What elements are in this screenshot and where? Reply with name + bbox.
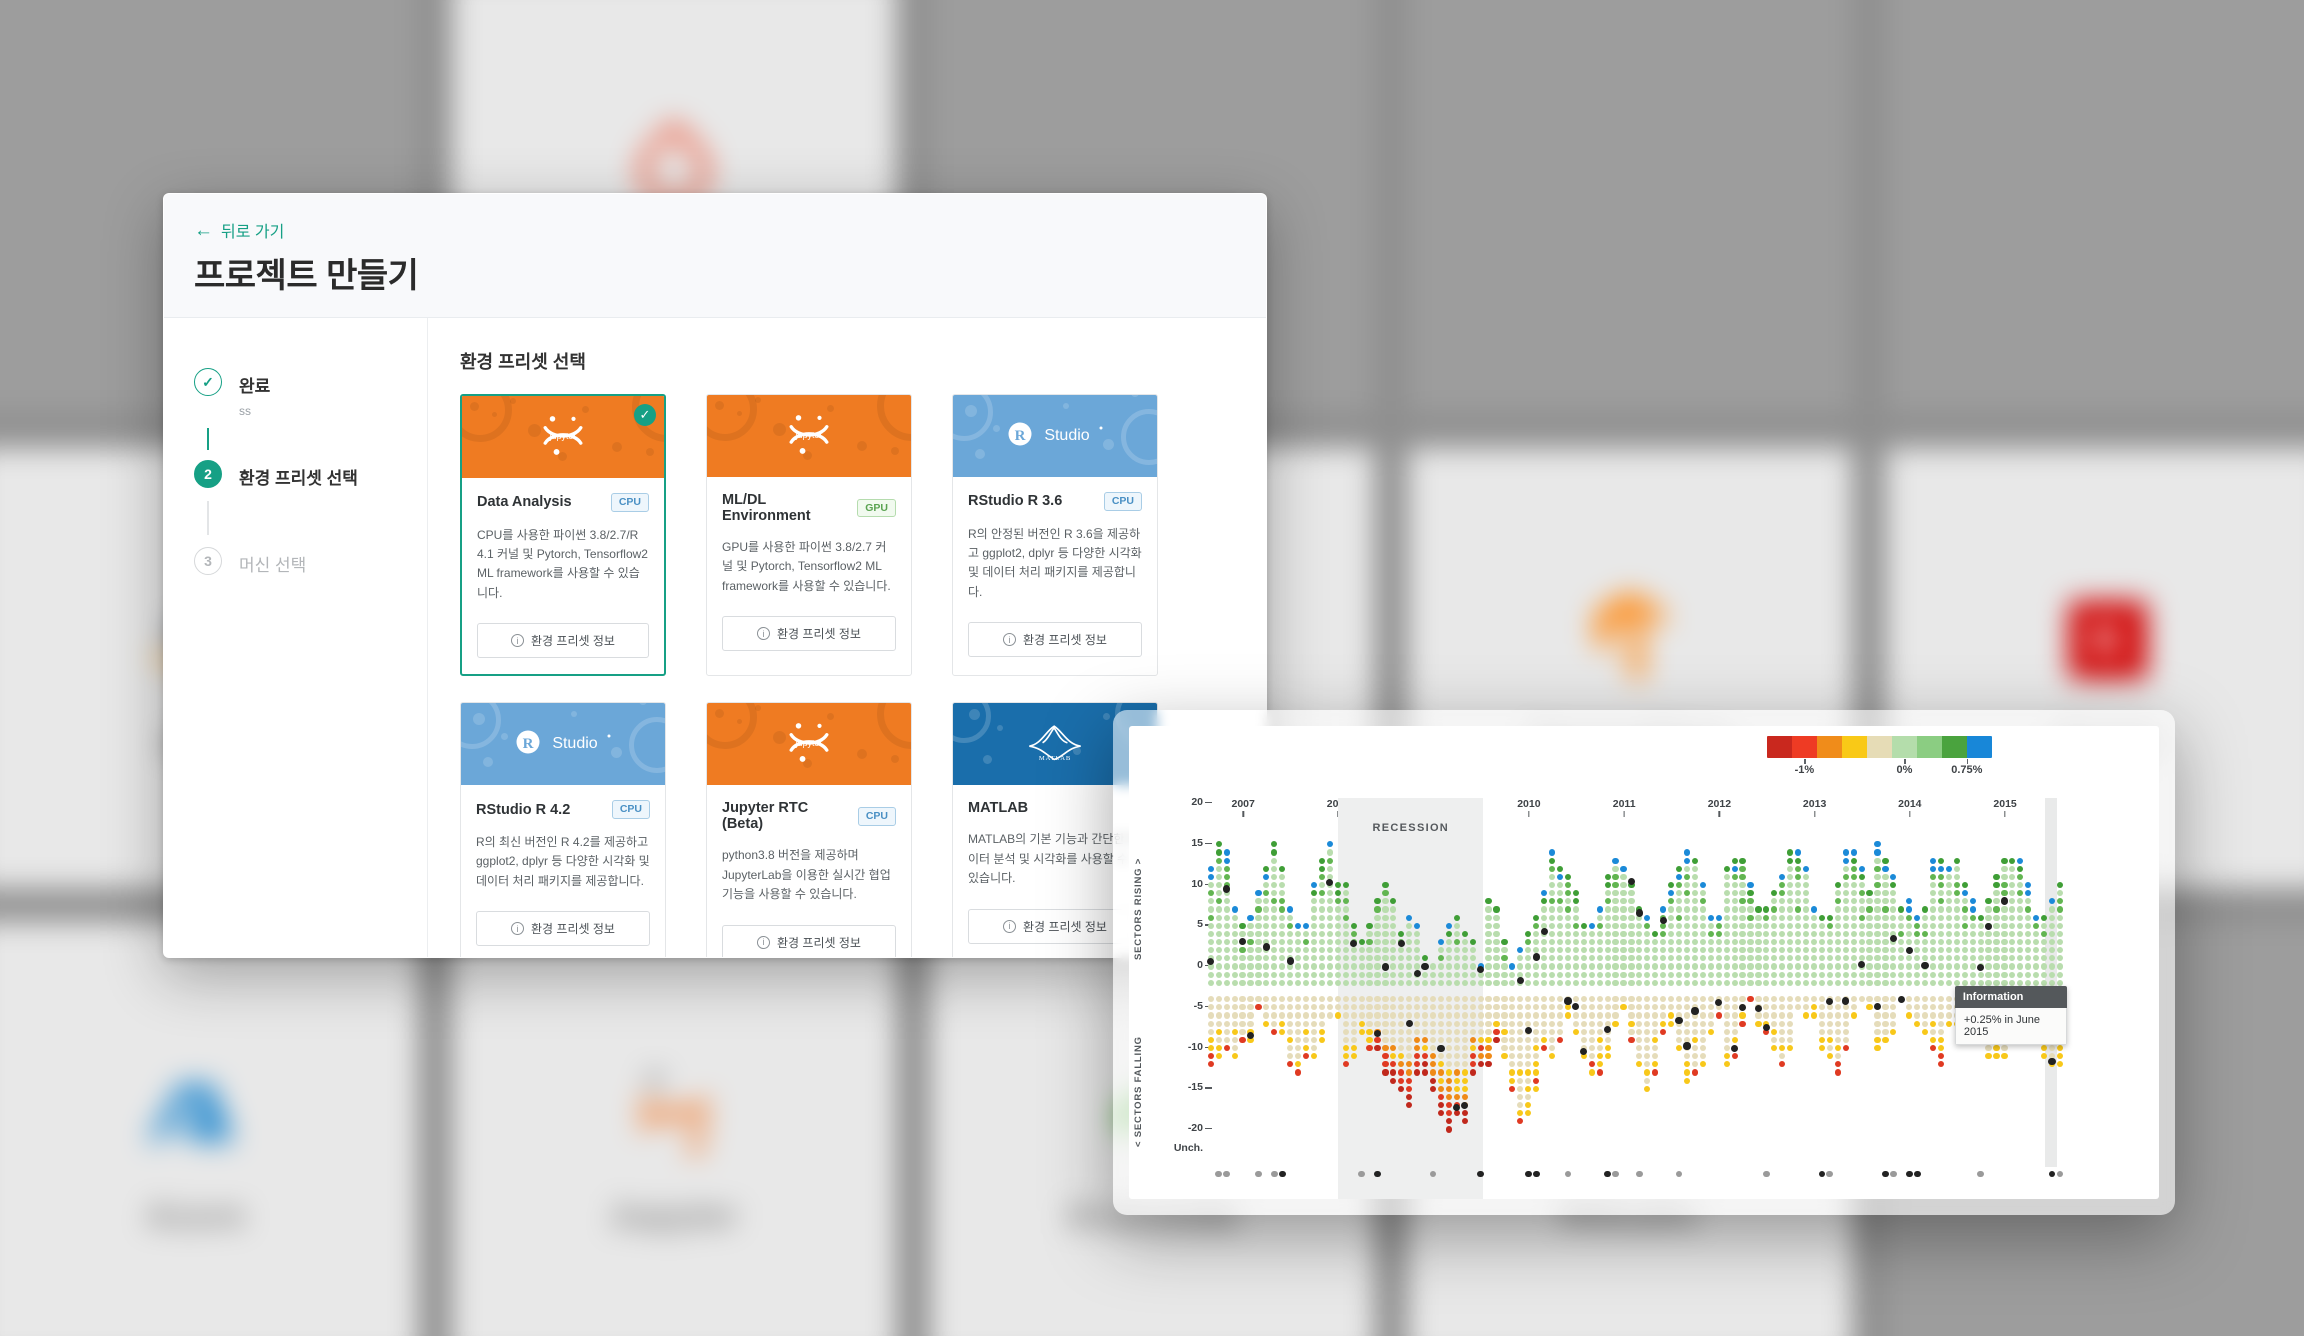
data-dot (1311, 947, 1317, 953)
data-dot (1700, 963, 1706, 969)
tile-azure: Azure (0, 922, 418, 1336)
data-dot (1239, 1012, 1245, 1018)
data-dot (1374, 1037, 1380, 1043)
data-dot (1993, 923, 1999, 929)
unchanged-dot (1890, 1171, 1897, 1178)
data-dot (1470, 939, 1476, 945)
data-dot (1247, 980, 1253, 986)
data-dot (1930, 955, 1936, 961)
data-dot (1644, 963, 1650, 969)
data-dot (1985, 898, 1991, 904)
data-dot (1779, 972, 1785, 978)
data-dot (1644, 1004, 1650, 1010)
preset-card-rstudio-r-3-6[interactable]: RStudioRStudio R 3.6CPUR의 안정된 버전인 R 3.6을… (952, 394, 1158, 676)
data-dot (1787, 890, 1793, 896)
data-dot (1732, 963, 1738, 969)
data-dot (1668, 947, 1674, 953)
index-marker-dot (1763, 1024, 1770, 1031)
data-dot (1224, 1037, 1230, 1043)
data-dot (1732, 939, 1738, 945)
data-dot (1319, 898, 1325, 904)
tile-blank-4 (1886, 0, 2304, 414)
data-dot (1724, 939, 1730, 945)
data-dot (1819, 923, 1825, 929)
data-dot (1827, 1045, 1833, 1051)
data-dot (1327, 963, 1333, 969)
data-dot (1581, 955, 1587, 961)
data-dot (1565, 890, 1571, 896)
data-dot (1803, 898, 1809, 904)
data-dot (1914, 980, 1920, 986)
data-dot (1716, 955, 1722, 961)
data-dot (1454, 1094, 1460, 1100)
data-dot (1755, 947, 1761, 953)
preset-info-button[interactable]: i환경 프리셋 정보 (722, 925, 896, 958)
data-dot (1684, 947, 1690, 953)
preset-info-button[interactable]: i환경 프리셋 정보 (968, 622, 1142, 657)
data-dot (1597, 939, 1603, 945)
data-dot (1382, 906, 1388, 912)
data-dot (1724, 963, 1730, 969)
jupyter-logo-icon: jupyter (786, 413, 832, 460)
data-dot (1525, 1037, 1531, 1043)
data-dot (1525, 1004, 1531, 1010)
data-dot (1739, 866, 1745, 872)
data-dot (1525, 955, 1531, 961)
data-dot (1509, 980, 1515, 986)
data-dot (1208, 874, 1214, 880)
data-dot (1327, 947, 1333, 953)
data-dot (1938, 980, 1944, 986)
data-dot (1763, 923, 1769, 929)
data-dot (1295, 939, 1301, 945)
data-dot (1343, 1012, 1349, 1018)
data-dot (1279, 898, 1285, 904)
data-dot (1779, 955, 1785, 961)
data-dot (1763, 955, 1769, 961)
preset-info-button[interactable]: i환경 프리셋 정보 (477, 623, 649, 658)
data-dot (1732, 906, 1738, 912)
data-dot (1930, 939, 1936, 945)
data-dot (1549, 972, 1555, 978)
data-dot (1676, 882, 1682, 888)
data-dot (1771, 898, 1777, 904)
data-dot (1232, 1004, 1238, 1010)
data-dot (1589, 1061, 1595, 1067)
data-dot (1835, 1012, 1841, 1018)
data-dot (1700, 882, 1706, 888)
data-dot (1795, 939, 1801, 945)
data-dot (1398, 963, 1404, 969)
data-dot (1208, 1037, 1214, 1043)
data-dot (1509, 1086, 1515, 1092)
data-dot (1565, 947, 1571, 953)
data-dot (1874, 1021, 1880, 1027)
data-dot (1700, 1045, 1706, 1051)
data-dot (1644, 1061, 1650, 1067)
data-dot (1692, 882, 1698, 888)
data-dot (1771, 923, 1777, 929)
data-dot (1946, 963, 1952, 969)
data-dot (1732, 947, 1738, 953)
data-dot (1549, 858, 1555, 864)
data-dot (1438, 980, 1444, 986)
data-dot (1605, 963, 1611, 969)
data-dot (1779, 980, 1785, 986)
svg-text:Studio: Studio (1044, 427, 1089, 444)
data-dot (1605, 915, 1611, 921)
data-dot (1549, 980, 1555, 986)
card-banner: jupyter (707, 395, 911, 477)
data-dot (1827, 915, 1833, 921)
data-dot (1454, 1078, 1460, 1084)
data-dot (1446, 963, 1452, 969)
data-dot (1732, 866, 1738, 872)
data-dot (1898, 980, 1904, 986)
data-dot (1954, 939, 1960, 945)
data-dot (1684, 898, 1690, 904)
data-dot (1684, 1061, 1690, 1067)
data-dot (1660, 972, 1666, 978)
step-1-done[interactable]: ✓완료ss (194, 368, 427, 418)
data-dot (1343, 939, 1349, 945)
data-dot (1724, 931, 1730, 937)
data-dot (1787, 939, 1793, 945)
data-dot (1811, 939, 1817, 945)
preset-card-ml-dl-environment[interactable]: jupyterML/DL EnvironmentGPUGPU를 사용한 파이썬 … (706, 394, 912, 676)
data-dot (1954, 980, 1960, 986)
preset-info-button[interactable]: i환경 프리셋 정보 (476, 911, 650, 946)
data-dot (1835, 939, 1841, 945)
data-dot (1716, 947, 1722, 953)
data-dot (2057, 923, 2063, 929)
data-dot (1779, 963, 1785, 969)
legend-swatch-5 (1892, 736, 1917, 758)
data-dot (2033, 963, 2039, 969)
data-dot (1605, 882, 1611, 888)
data-dot (1724, 996, 1730, 1002)
preset-description: python3.8 버전을 제공하며 JupyterLab을 이용한 실시간 협… (722, 846, 896, 904)
data-dot (1303, 980, 1309, 986)
data-dot (1255, 890, 1261, 896)
data-dot (1446, 1037, 1452, 1043)
data-dot (1922, 923, 1928, 929)
data-dot (1462, 1029, 1468, 1035)
data-dot (1898, 923, 1904, 929)
data-dot (2049, 980, 2055, 986)
preset-card-data-analysis[interactable]: jupyter✓Data AnalysisCPUCPU를 사용한 파이썬 3.8… (460, 394, 666, 676)
data-dot (1438, 963, 1444, 969)
data-dot (1374, 898, 1380, 904)
data-dot (1232, 931, 1238, 937)
data-dot (1263, 1004, 1269, 1010)
data-dot (1938, 874, 1944, 880)
card-head: ML/DL EnvironmentGPU (722, 492, 896, 524)
data-dot (1454, 972, 1460, 978)
data-dot (1938, 1045, 1944, 1051)
data-dot (1454, 923, 1460, 929)
data-dot (1803, 923, 1809, 929)
data-dot (2009, 931, 2015, 937)
data-dot (1493, 980, 1499, 986)
data-dot (1930, 1037, 1936, 1043)
data-dot (1462, 972, 1468, 978)
data-dot (1287, 980, 1293, 986)
data-dot (1652, 1029, 1658, 1035)
y-tick-15: 15 (1191, 837, 1203, 849)
data-dot (1716, 939, 1722, 945)
data-dot (1835, 955, 1841, 961)
data-dot (1644, 923, 1650, 929)
data-dot (1359, 972, 1365, 978)
step-2-active[interactable]: 2환경 프리셋 선택 (194, 460, 427, 489)
data-dot (1374, 906, 1380, 912)
data-dot (1382, 1045, 1388, 1051)
data-dot (1700, 898, 1706, 904)
data-dot (1462, 980, 1468, 986)
data-dot (1811, 923, 1817, 929)
data-dot (1446, 1069, 1452, 1075)
data-dot (1589, 955, 1595, 961)
data-dot (1962, 898, 1968, 904)
data-dot (1438, 1021, 1444, 1027)
data-dot (1335, 882, 1341, 888)
data-dot (1620, 882, 1626, 888)
data-dot (1525, 963, 1531, 969)
data-dot (1668, 1021, 1674, 1027)
x-tick-2012: 2012 (1708, 798, 1731, 817)
data-dot (1874, 858, 1880, 864)
index-marker-dot (1541, 928, 1548, 935)
data-dot (1859, 906, 1865, 912)
data-dot (1652, 931, 1658, 937)
data-dot (1573, 906, 1579, 912)
index-marker-dot (1683, 1042, 1690, 1049)
data-dot (2057, 939, 2063, 945)
data-dot (1366, 923, 1372, 929)
data-dot (1446, 923, 1452, 929)
data-dot (1271, 915, 1277, 921)
back-link[interactable]: ← 뒤로 가기 (194, 218, 1266, 242)
data-dot (1866, 1004, 1872, 1010)
data-dot (1232, 939, 1238, 945)
data-dot (1755, 963, 1761, 969)
data-dot (1835, 947, 1841, 953)
data-dot (1851, 858, 1857, 864)
data-dot (1628, 890, 1634, 896)
data-dot (2009, 858, 2015, 864)
data-dot (1565, 1004, 1571, 1010)
data-dot (1232, 1045, 1238, 1051)
data-dot (1795, 996, 1801, 1002)
data-dot (1208, 931, 1214, 937)
data-dot (1676, 890, 1682, 896)
data-dot (1311, 939, 1317, 945)
data-dot (1263, 963, 1269, 969)
data-dot (1795, 890, 1801, 896)
legend-swatch-3 (1842, 736, 1867, 758)
data-dot (1295, 931, 1301, 937)
data-dot (1493, 906, 1499, 912)
data-dot (1914, 972, 1920, 978)
data-dot (1811, 915, 1817, 921)
data-dot (1239, 931, 1245, 937)
data-dot (2009, 963, 2015, 969)
data-dot (1263, 1021, 1269, 1027)
data-dot (1843, 931, 1849, 937)
data-dot (1319, 906, 1325, 912)
legend-color-bar (1767, 736, 1992, 758)
preset-info-button[interactable]: i환경 프리셋 정보 (722, 616, 896, 651)
step-label: 머신 선택 (239, 551, 306, 576)
data-dot (1906, 955, 1912, 961)
index-marker-dot (1842, 997, 1849, 1004)
data-dot (1422, 1012, 1428, 1018)
data-dot (1755, 915, 1761, 921)
data-dot (1779, 1021, 1785, 1027)
card-banner: jupyter✓ (462, 396, 664, 478)
data-dot (1271, 996, 1277, 1002)
data-dot (1343, 996, 1349, 1002)
data-dot (1287, 1053, 1293, 1059)
data-dot (1835, 906, 1841, 912)
data-dot (1382, 980, 1388, 986)
data-dot (1239, 923, 1245, 929)
data-dot (1533, 1061, 1539, 1067)
data-dot (1660, 931, 1666, 937)
data-dot (1549, 947, 1555, 953)
data-dot (1620, 996, 1626, 1002)
data-dot (1851, 874, 1857, 880)
data-dot (1406, 972, 1412, 978)
data-dot (1724, 1021, 1730, 1027)
data-dot (1573, 980, 1579, 986)
index-marker-dot (1890, 935, 1897, 942)
data-dot (1216, 996, 1222, 1002)
data-dot (1763, 972, 1769, 978)
data-dot (1787, 963, 1793, 969)
data-dot (1589, 972, 1595, 978)
data-dot (1605, 1004, 1611, 1010)
data-dot (1668, 980, 1674, 986)
data-dot (1573, 890, 1579, 896)
data-dot (1859, 939, 1865, 945)
data-dot (1438, 972, 1444, 978)
data-dot (1224, 1021, 1230, 1027)
data-dot (1684, 1012, 1690, 1018)
data-dot (1874, 923, 1880, 929)
data-dot (1612, 931, 1618, 937)
unchanged-dot (1215, 1171, 1222, 1178)
data-dot (1771, 947, 1777, 953)
data-dot (1509, 996, 1515, 1002)
data-dot (1732, 972, 1738, 978)
data-dot (1620, 874, 1626, 880)
data-dot (1827, 923, 1833, 929)
data-dot (1628, 972, 1634, 978)
data-dot (1890, 906, 1896, 912)
data-dot (1382, 890, 1388, 896)
y-tick--10: -10 (1188, 1041, 1203, 1053)
data-dot (1374, 931, 1380, 937)
step-3-todo[interactable]: 3머신 선택 (194, 547, 427, 576)
data-dot (1985, 906, 1991, 912)
data-dot (1676, 980, 1682, 986)
data-dot (1978, 915, 1984, 921)
data-dot (1279, 955, 1285, 961)
data-dot (1890, 874, 1896, 880)
data-dot (1930, 898, 1936, 904)
card-banner: RStudio (953, 395, 1157, 477)
data-dot (1708, 915, 1714, 921)
data-dot (1779, 898, 1785, 904)
data-dot (1732, 882, 1738, 888)
data-dot (1549, 1037, 1555, 1043)
data-dot (1882, 890, 1888, 896)
svg-text:jupyter: jupyter (795, 738, 823, 748)
data-dot (2025, 923, 2031, 929)
data-dot (1700, 923, 1706, 929)
data-dot (2001, 947, 2007, 953)
data-dot (1859, 947, 1865, 953)
data-dot (1898, 955, 1904, 961)
data-dot (1843, 858, 1849, 864)
data-dot (1620, 980, 1626, 986)
data-dot (1716, 972, 1722, 978)
data-dot (1319, 882, 1325, 888)
preset-card-rstudio-r-4-2[interactable]: RStudioRStudio R 4.2CPUR의 최신 버전인 R 4.2를 … (460, 702, 666, 958)
data-dot (1930, 890, 1936, 896)
data-dot (1612, 898, 1618, 904)
data-dot (1462, 1021, 1468, 1027)
step-label: 완료 (239, 372, 270, 397)
data-dot (1906, 923, 1912, 929)
data-dot (1938, 906, 1944, 912)
chart-canvas[interactable]: 200720082009201020112012201320142015 REC… (1207, 798, 2151, 1199)
info-icon: i (511, 922, 524, 935)
data-dot (1660, 955, 1666, 961)
data-dot (1255, 931, 1261, 937)
data-dot (1684, 1021, 1690, 1027)
data-dot (1581, 1012, 1587, 1018)
data-dot (1739, 972, 1745, 978)
data-dot (1771, 1029, 1777, 1035)
data-dot (1843, 947, 1849, 953)
data-dot (1993, 890, 1999, 896)
data-dot (1525, 1053, 1531, 1059)
data-dot (1359, 996, 1365, 1002)
data-dot (1787, 858, 1793, 864)
data-dot (1859, 898, 1865, 904)
info-icon: i (511, 634, 524, 647)
data-dot (1827, 980, 1833, 986)
data-dot (1819, 955, 1825, 961)
data-dot (1303, 1021, 1309, 1027)
data-dot (1771, 1045, 1777, 1051)
data-dot (1755, 939, 1761, 945)
data-dot (1311, 915, 1317, 921)
data-dot (1684, 996, 1690, 1002)
data-dot (1271, 874, 1277, 880)
data-dot (1874, 915, 1880, 921)
data-dot (1493, 1004, 1499, 1010)
data-dot (1303, 939, 1309, 945)
preset-card-jupyter-rtc-beta[interactable]: jupyterJupyter RTC (Beta)CPUpython3.8 버전… (706, 702, 912, 958)
data-dot (1874, 841, 1880, 847)
data-dot (1366, 1045, 1372, 1051)
data-dot (1795, 923, 1801, 929)
data-dot (2009, 955, 2015, 961)
